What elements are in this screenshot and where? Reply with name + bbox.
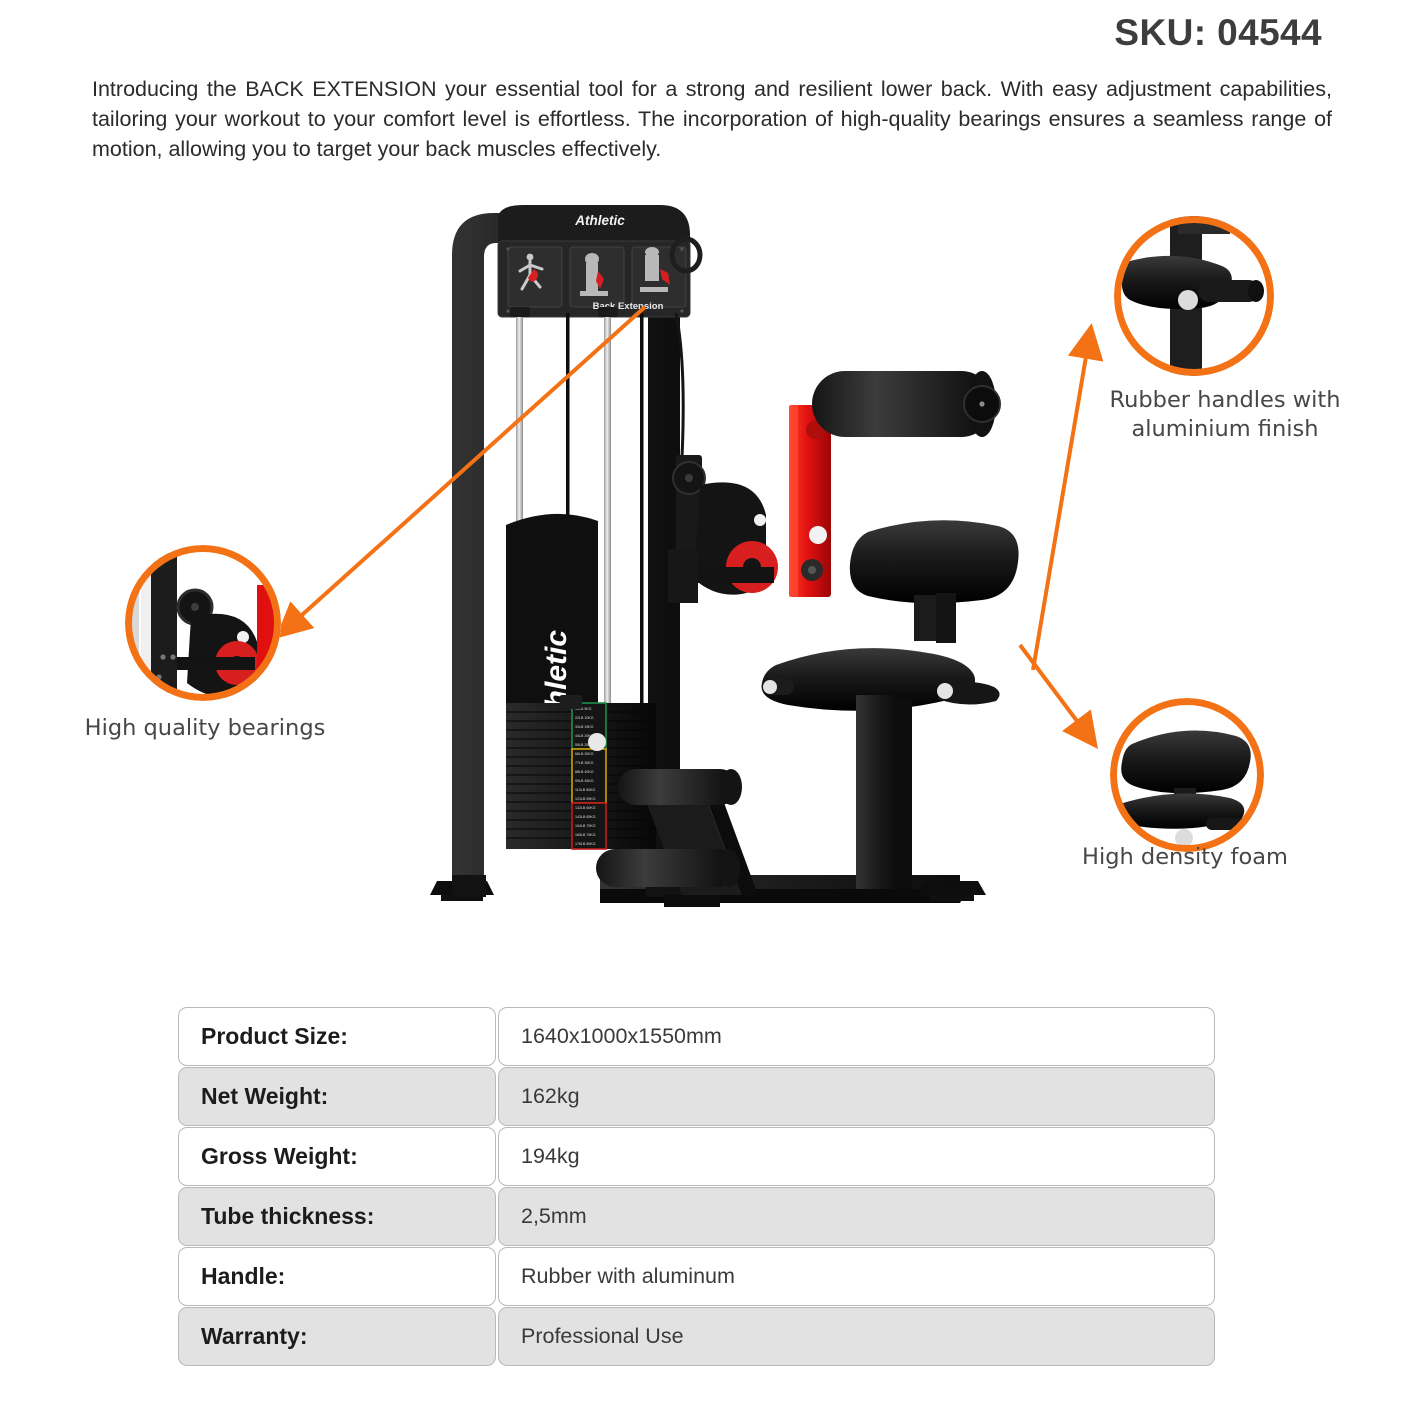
callout-foam-image <box>1110 698 1264 852</box>
table-row: Net Weight: 162kg <box>178 1067 1215 1126</box>
spec-value: 1640x1000x1550mm <box>498 1007 1215 1066</box>
spec-key: Product Size: <box>178 1007 496 1066</box>
arrow-bearings <box>283 307 645 632</box>
callout-label-bearings: High quality bearings <box>40 714 370 743</box>
spec-value: 194kg <box>498 1127 1215 1186</box>
table-row: Handle: Rubber with aluminum <box>178 1247 1215 1306</box>
arrow-handles <box>1033 333 1090 670</box>
callout-label-foam: High density foam <box>1030 843 1340 872</box>
spec-key: Handle: <box>178 1247 496 1306</box>
callout-circle-foam <box>1110 698 1264 852</box>
spec-value: 162kg <box>498 1067 1215 1126</box>
spec-key: Warranty: <box>178 1307 496 1366</box>
spec-value: 2,5mm <box>498 1187 1215 1246</box>
table-row: Warranty: Professional Use <box>178 1307 1215 1366</box>
product-illustration-stage: Back Extension Athletic <box>0 195 1414 965</box>
spec-key: Tube thickness: <box>178 1187 496 1246</box>
spec-value: Professional Use <box>498 1307 1215 1366</box>
table-row: Tube thickness: 2,5mm <box>178 1187 1215 1246</box>
callout-bearings-image <box>125 545 281 701</box>
sku-label: SKU: 04544 <box>1114 12 1322 54</box>
callout-handles-line1: Rubber handles with <box>1110 387 1341 413</box>
callout-label-handles: Rubber handles with aluminium finish <box>1075 386 1375 444</box>
spec-key: Gross Weight: <box>178 1127 496 1186</box>
arrow-foam <box>1020 645 1092 741</box>
product-description: Introducing the BACK EXTENSION your esse… <box>92 74 1332 164</box>
table-row: Gross Weight: 194kg <box>178 1127 1215 1186</box>
spec-key: Net Weight: <box>178 1067 496 1126</box>
spec-value: Rubber with aluminum <box>498 1247 1215 1306</box>
table-row: Product Size: 1640x1000x1550mm <box>178 1007 1215 1066</box>
specification-table: Product Size: 1640x1000x1550mm Net Weigh… <box>178 1007 1215 1367</box>
product-spec-sheet: SKU: 04544 Introducing the BACK EXTENSIO… <box>0 0 1414 1414</box>
callout-handles-line2: aluminium finish <box>1132 416 1319 442</box>
callout-circle-bearings <box>125 545 281 701</box>
callout-handles-image <box>1114 216 1274 376</box>
callout-circle-handles <box>1114 216 1274 376</box>
